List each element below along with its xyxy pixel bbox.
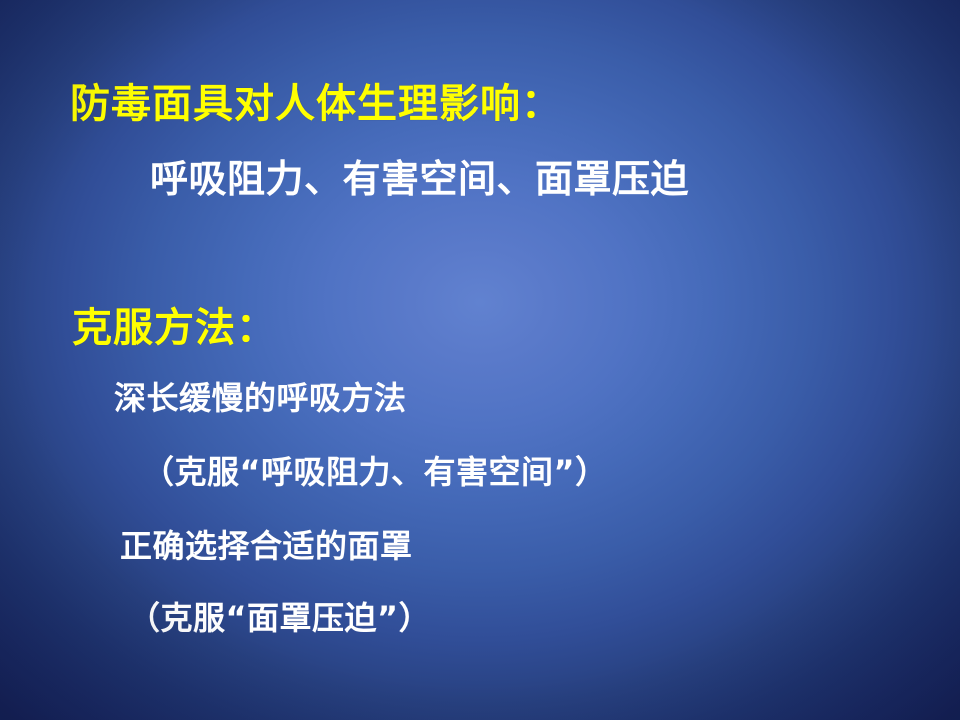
method-item-1-text: 深长缓慢的呼吸方法 [114, 382, 407, 414]
section-heading-methods: 克服方法： [72, 308, 277, 348]
slide-title: 防毒面具对人体生理影响： [70, 84, 562, 124]
slide-subtitle: 呼吸阻力、有害空间、面罩压迫 [150, 160, 689, 198]
presentation-slide: 防毒面具对人体生理影响： 呼吸阻力、有害空间、面罩压迫 克服方法： 深长缓慢的呼… [0, 0, 960, 720]
method-item-1-note: （克服“呼吸阻力、有害空间”） [142, 456, 608, 488]
method-item-2-text: 正确选择合适的面罩 [120, 530, 413, 562]
slide-content: 防毒面具对人体生理影响： 呼吸阻力、有害空间、面罩压迫 克服方法： 深长缓慢的呼… [0, 0, 960, 720]
method-item-2-note: （克服“面罩压迫”） [128, 602, 431, 634]
